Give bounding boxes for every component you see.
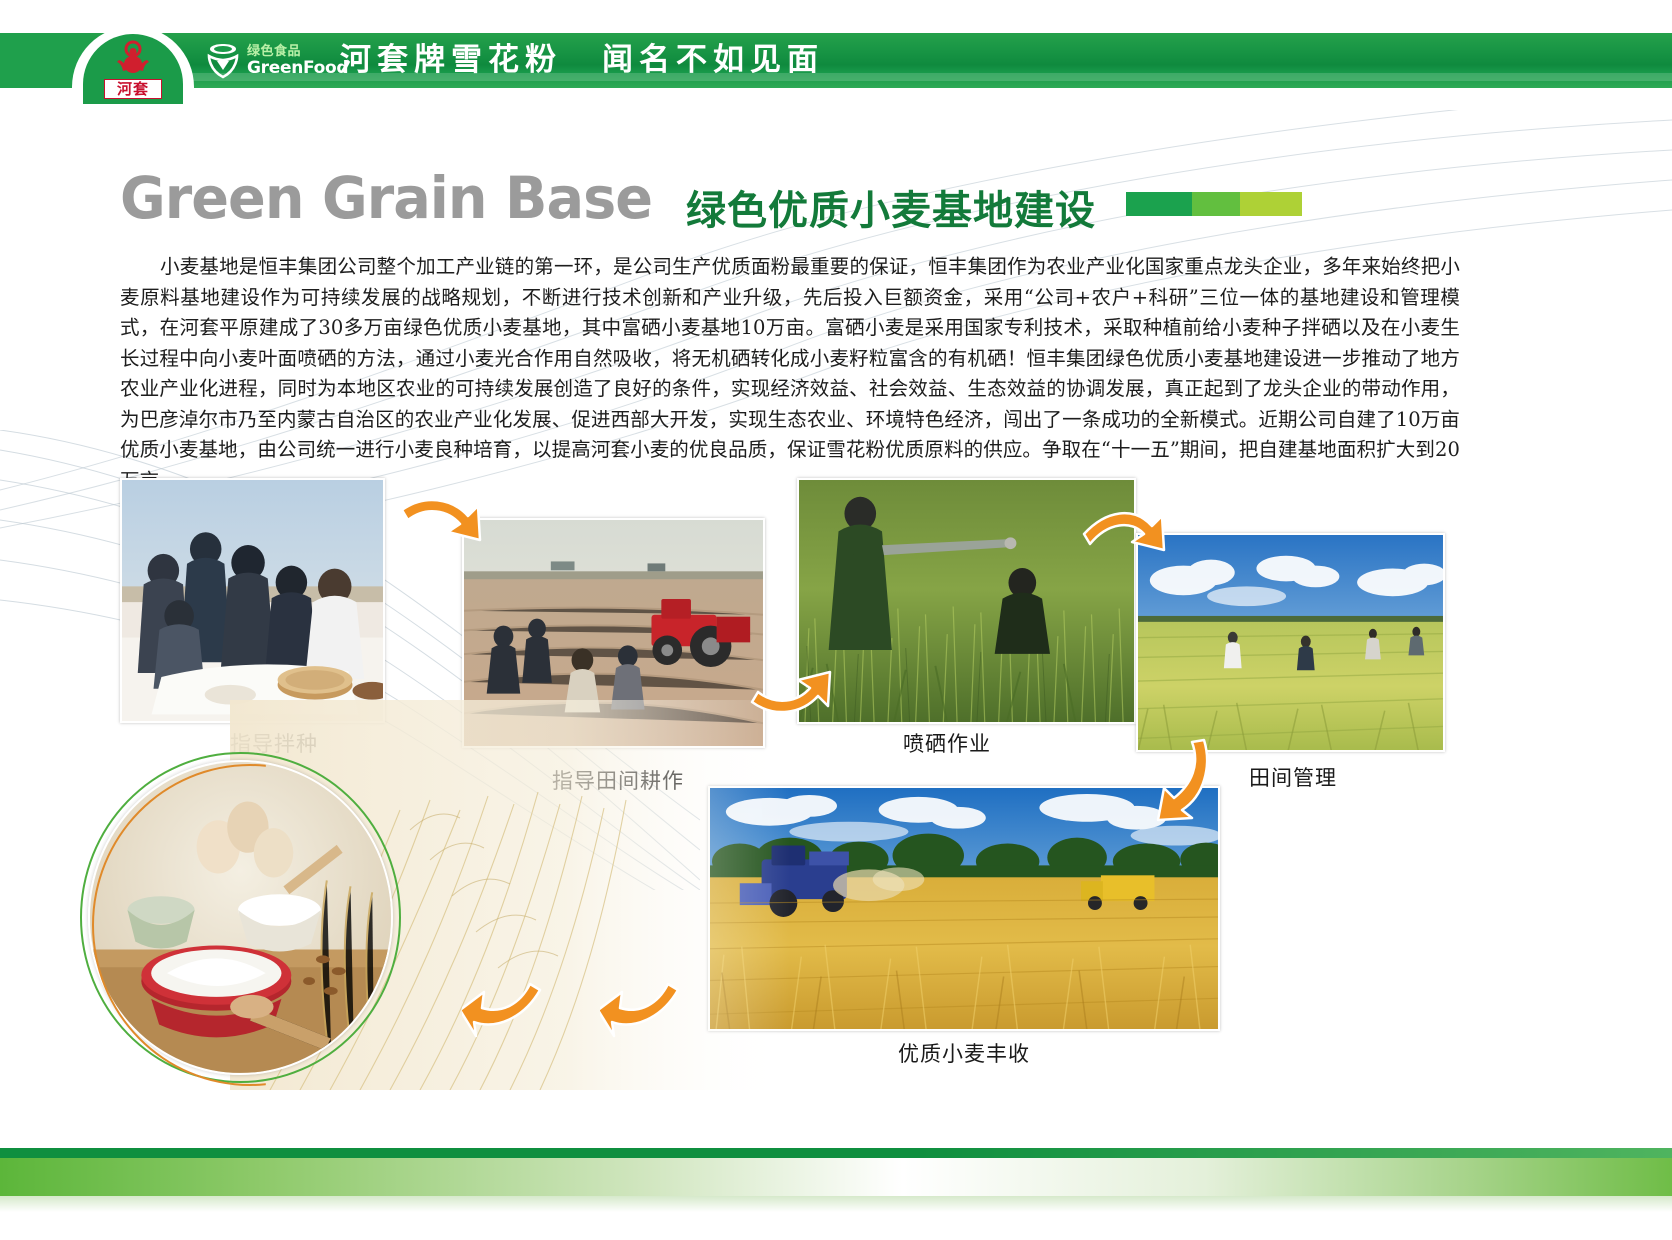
photo-field-tilling: [462, 518, 765, 748]
footer-fade: [0, 1196, 1672, 1212]
header-slogan-brand: 河套牌雪花粉: [340, 39, 562, 81]
caption-selenium-spray: 喷硒作业: [903, 728, 991, 758]
caption-seed-mixing: 指导拌种: [230, 728, 318, 758]
accent-bar-2: [1192, 192, 1240, 216]
page-title-english: Green Grain Base: [120, 164, 652, 232]
caption-field-tilling: 指导田间耕作: [552, 765, 684, 795]
hetao-logo-icon: [108, 38, 158, 82]
photo-selenium-spray: [797, 478, 1136, 724]
arrow-6: [462, 980, 548, 1042]
greenfood-mark: 绿色食品 GreenFood: [206, 40, 348, 82]
brochure-page: 河套 绿色食品 GreenFood 河套牌雪花粉 闻名不如见面 Green Gr…: [0, 0, 1672, 1240]
body-paragraph: 小麦基地是恒丰集团公司整个加工产业链的第一环，是公司生产优质面粉最重要的保证，恒…: [120, 252, 1460, 496]
photo-wheat-harvest: [708, 786, 1220, 1031]
arrow-5: [600, 980, 686, 1042]
photo-flour-products: [88, 760, 393, 1075]
caption-wheat-harvest: 优质小麦丰收: [898, 1038, 1030, 1068]
footer-green-bar: [0, 1148, 1672, 1158]
title-accent-bars: [1126, 192, 1302, 216]
photo-seed-mixing: [120, 478, 385, 723]
footer-gradient-bar: [0, 1158, 1672, 1196]
page-title-chinese: 绿色优质小麦基地建设: [686, 178, 1096, 236]
accent-bar-3: [1240, 192, 1302, 216]
greenfood-label-cn: 绿色食品: [247, 45, 348, 58]
logo-wordmark: 河套: [104, 79, 162, 99]
header-slogan-tagline: 闻名不如见面: [602, 39, 824, 81]
accent-bar-1: [1126, 192, 1192, 216]
greenfood-label-en: GreenFood: [247, 60, 348, 77]
caption-field-management: 田间管理: [1249, 762, 1337, 792]
photo-field-management: [1136, 533, 1445, 752]
greenfood-text: 绿色食品 GreenFood: [247, 45, 348, 77]
greenfood-icon: [206, 43, 240, 79]
